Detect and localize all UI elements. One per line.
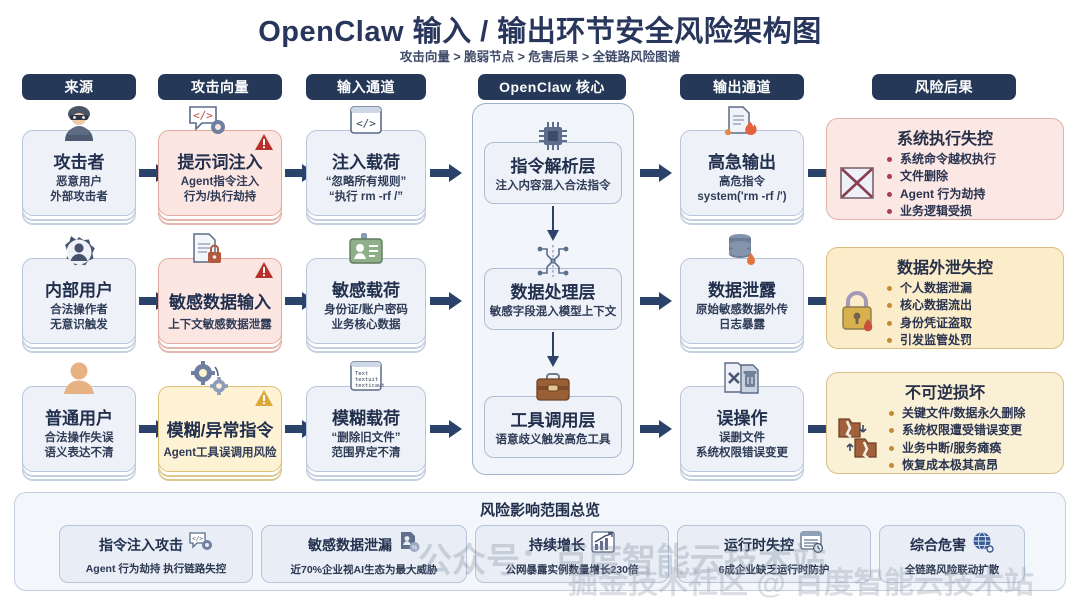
risk-item: 核心数据流出 bbox=[887, 297, 972, 314]
column-header-attack-vector: 攻击向量 bbox=[158, 74, 282, 100]
node-sub-2: “执行 rm -rf /” bbox=[329, 190, 403, 206]
summary-card-data-leak[interactable]: 敏感数据泄漏 % 近70%企业视AI生态为最大威胁 bbox=[261, 525, 467, 583]
node-sub-2: system('rm -rf /') bbox=[697, 190, 786, 206]
page-title: OpenClaw 输入 / 输出环节安全风险架构图 bbox=[0, 8, 1080, 50]
node-vector-ambiguous-command[interactable]: 模糊/异常指令 Agent工具误调用风险 bbox=[158, 386, 282, 472]
svg-text:</>: </> bbox=[193, 109, 213, 122]
risk-item-list: 系统命令越权执行 文件删除 Agent 行为劫持 业务逻辑受损 bbox=[887, 151, 996, 221]
risk-card-irreversible-damage[interactable]: 不可逆损坏 关键文件/数据永久删除 系统权限遭受错误变更 业务中断/服务瘫痪 恢… bbox=[826, 372, 1064, 474]
summary-title: 风险影响范围总览 bbox=[15, 499, 1065, 520]
core-layer-data-processing[interactable]: 数据处理层 敏感字段混入模型上下文 bbox=[484, 268, 622, 330]
risk-card-system-execution[interactable]: 系统执行失控 系统命令越权执行 文件删除 Agent 行为劫持 业务逻辑受损 bbox=[826, 118, 1064, 220]
globe-icon bbox=[972, 531, 994, 558]
id-card-icon bbox=[347, 233, 385, 270]
broken-folder-icon bbox=[835, 413, 881, 466]
node-title: 敏感载荷 bbox=[332, 281, 400, 301]
node-channel-ambiguous-payload[interactable]: Texttextuittexticaut 模糊载荷 “删除旧文件” 范围界定不清 bbox=[306, 386, 426, 472]
node-output-misoperation[interactable]: 误操作 误删文件 系统权限错误变更 bbox=[680, 386, 804, 472]
neural-node-icon bbox=[533, 243, 573, 284]
node-sub-1: 身份证/账户密码 bbox=[324, 303, 408, 319]
node-sub-2: 外部攻击者 bbox=[50, 190, 108, 206]
node-source-attacker[interactable]: 攻击者 恶意用户 外部攻击者 bbox=[22, 130, 136, 216]
node-title: 高急输出 bbox=[708, 153, 776, 173]
summary-card-sub: 全链路风险联动扩散 bbox=[905, 562, 1000, 577]
core-layer-sub: 语意歧义触发高危工具 bbox=[496, 433, 611, 449]
node-sub-1: Agent指令注入 bbox=[181, 175, 260, 191]
node-sub-1: 上下文敏感数据泄露 bbox=[168, 318, 272, 334]
risk-item: 身份凭证盗取 bbox=[887, 315, 972, 332]
summary-card-title: 运行时失控 bbox=[724, 535, 794, 555]
node-vector-sensitive-input[interactable]: 敏感数据输入 上下文敏感数据泄露 bbox=[158, 258, 282, 344]
summary-card-sub: Agent 行为劫持 执行链路失控 bbox=[86, 561, 227, 576]
code-window-icon: </> bbox=[349, 105, 383, 140]
warning-triangle-amber-icon bbox=[254, 389, 274, 412]
page-subtitle: 攻击向量 > 脆弱节点 > 危害后果 > 全链路风险图谱 bbox=[0, 46, 1080, 65]
node-sub-1: Agent工具误调用风险 bbox=[163, 446, 276, 462]
summary-card-title: 敏感数据泄漏 bbox=[308, 535, 392, 555]
risk-item: 系统命令越权执行 bbox=[887, 151, 996, 168]
lock-drop-icon bbox=[835, 288, 879, 341]
svg-text:%: % bbox=[412, 546, 418, 552]
risk-item: 引发监管处罚 bbox=[887, 332, 972, 349]
node-title: 模糊载荷 bbox=[332, 409, 400, 429]
hacker-icon bbox=[59, 105, 99, 148]
arrow-channel-to-core-3 bbox=[430, 419, 464, 439]
summary-card-runtime[interactable]: 运行时失控 6成企业缺乏运行时防护 bbox=[677, 525, 871, 583]
core-layer-sub: 注入内容混入合法指令 bbox=[496, 179, 611, 195]
risk-title: 不可逆损坏 bbox=[835, 379, 1055, 403]
summary-card-sub: 6成企业缺乏运行时防护 bbox=[719, 562, 830, 577]
risk-item: 恢复成本极其高昂 bbox=[889, 457, 1025, 474]
summary-card-title: 持续增长 bbox=[529, 535, 585, 555]
node-title: 敏感数据输入 bbox=[169, 293, 271, 313]
risk-item: 系统权限遭受错误变更 bbox=[889, 422, 1025, 439]
node-sub-1: 合法操作者 bbox=[50, 303, 108, 319]
code-gear-small-icon: </> bbox=[189, 532, 213, 557]
node-sub-2: 行为/执行劫持 bbox=[184, 190, 256, 206]
arrow-core-to-output-2 bbox=[640, 291, 674, 311]
node-title: 模糊/异常指令 bbox=[167, 421, 274, 441]
document-lock-icon bbox=[188, 233, 228, 274]
warning-triangle-icon bbox=[254, 261, 274, 284]
node-sub-1: 合法操作失误 bbox=[45, 431, 114, 447]
risk-item: 关键文件/数据永久删除 bbox=[889, 405, 1025, 422]
risk-title: 系统执行失控 bbox=[835, 125, 1055, 149]
summary-card-combined-harm[interactable]: 综合危害 全链路风险联动扩散 bbox=[879, 525, 1025, 583]
core-layer-title: 指令解析层 bbox=[511, 157, 596, 177]
summary-card-title: 综合危害 bbox=[910, 535, 966, 555]
node-title: 数据泄露 bbox=[708, 281, 776, 301]
column-header-input-channel: 输入通道 bbox=[306, 74, 426, 100]
arrow-core-2-to-3 bbox=[546, 332, 560, 368]
node-title: 内部用户 bbox=[45, 281, 113, 301]
svg-text:</>: </> bbox=[356, 117, 376, 130]
node-sub-1: “删除旧文件” bbox=[332, 431, 401, 447]
arrow-channel-to-core-2 bbox=[430, 291, 464, 311]
briefcase-icon bbox=[535, 373, 571, 408]
node-source-normal-user[interactable]: 普通用户 合法操作失误 语义表达不清 bbox=[22, 386, 136, 472]
arrow-core-to-output-1 bbox=[640, 163, 674, 183]
node-vector-prompt-injection[interactable]: </> 提示词注入 Agent指令注入 行为/执行劫持 bbox=[158, 130, 282, 216]
growth-chart-icon bbox=[591, 531, 615, 558]
risk-item-list: 关键文件/数据永久删除 系统权限遭受错误变更 业务中断/服务瘫痪 恢复成本极其高… bbox=[889, 405, 1025, 475]
node-sub-2: 范围界定不清 bbox=[332, 446, 401, 462]
summary-card-sub: 近70%企业视AI生态为最大威胁 bbox=[290, 562, 437, 577]
delete-file-icon bbox=[721, 361, 763, 400]
node-title: 注入载荷 bbox=[332, 153, 400, 173]
risk-item: 文件删除 bbox=[887, 168, 996, 185]
node-source-internal-user[interactable]: 内部用户 合法操作者 无意识触发 bbox=[22, 258, 136, 344]
core-layer-sub: 敏感字段混入模型上下文 bbox=[490, 305, 617, 321]
risk-item: 个人数据泄漏 bbox=[887, 280, 972, 297]
code-gear-icon: </> bbox=[188, 105, 228, 144]
node-channel-sensitive-payload[interactable]: 敏感载荷 身份证/账户密码 业务核心数据 bbox=[306, 258, 426, 344]
gears-icon bbox=[188, 361, 232, 402]
node-sub-1: “忽略所有规则” bbox=[326, 175, 407, 191]
node-output-data-leak[interactable]: 数据泄露 原始敏感数据外传 日志暴露 bbox=[680, 258, 804, 344]
summary-card-sub: 公网暴露实例数量增长230倍 bbox=[505, 562, 638, 577]
risk-item: Agent 行为劫持 bbox=[887, 186, 996, 203]
node-title: 攻击者 bbox=[54, 153, 105, 173]
svg-text:</>: </> bbox=[192, 536, 203, 543]
node-sub-1: 高危指令 bbox=[719, 175, 765, 191]
column-header-source: 来源 bbox=[22, 74, 136, 100]
person-icon bbox=[61, 361, 97, 400]
column-header-openclaw-core: OpenClaw 核心 bbox=[478, 74, 626, 100]
core-layer-title: 数据处理层 bbox=[511, 283, 596, 303]
node-sub-2: 无意识触发 bbox=[50, 318, 108, 334]
risk-item: 业务逻辑受损 bbox=[887, 203, 996, 220]
column-header-output-channel: 输出通道 bbox=[680, 74, 804, 100]
node-channel-injection-payload[interactable]: </> 注入载荷 “忽略所有规则” “执行 rm -rf /” bbox=[306, 130, 426, 216]
runtime-monitor-icon bbox=[800, 531, 824, 558]
summary-card-growth[interactable]: 持续增长 公网暴露实例数量增长230倍 bbox=[475, 525, 669, 583]
core-layer-instruction-parsing[interactable]: 指令解析层 注入内容混入合法指令 bbox=[484, 142, 622, 204]
warning-triangle-icon bbox=[254, 133, 274, 156]
node-sub-2: 业务核心数据 bbox=[332, 318, 401, 334]
node-sub-1: 恶意用户 bbox=[56, 175, 102, 191]
risk-item: 业务中断/服务瘫痪 bbox=[889, 440, 1025, 457]
node-title: 误操作 bbox=[717, 409, 768, 429]
crossed-box-icon bbox=[835, 160, 879, 211]
arrow-channel-to-core-1 bbox=[430, 163, 464, 183]
node-sub-1: 误删文件 bbox=[719, 431, 765, 447]
document-percent-icon: % bbox=[398, 531, 420, 558]
burning-document-icon bbox=[721, 105, 763, 142]
summary-card-injection-attack[interactable]: 指令注入攻击 </> Agent 行为劫持 执行链路失控 bbox=[59, 525, 253, 583]
svg-text:texticaut: texticaut bbox=[355, 383, 384, 389]
risk-item-list: 个人数据泄漏 核心数据流出 身份凭证盗取 引发监管处罚 bbox=[887, 280, 972, 350]
node-output-high-risk[interactable]: 高急输出 高危指令 system('rm -rf /') bbox=[680, 130, 804, 216]
node-sub-2: 日志暴露 bbox=[719, 318, 765, 334]
node-sub-2: 语义表达不清 bbox=[45, 446, 114, 462]
arrow-core-1-to-2 bbox=[546, 206, 560, 242]
core-layer-tool-invocation[interactable]: 工具调用层 语意歧义触发高危工具 bbox=[484, 396, 622, 458]
node-title: 提示词注入 bbox=[178, 153, 263, 173]
arrow-core-to-output-3 bbox=[640, 419, 674, 439]
node-sub-2: 系统权限错误变更 bbox=[696, 446, 788, 462]
chip-icon bbox=[536, 119, 570, 158]
database-leak-icon bbox=[723, 233, 761, 272]
risk-card-data-exfiltration[interactable]: 数据外泄失控 个人数据泄漏 核心数据流出 身份凭证盗取 引发监管处罚 bbox=[826, 247, 1064, 349]
text-window-icon: Texttextuittexticaut bbox=[348, 361, 384, 398]
core-layer-title: 工具调用层 bbox=[511, 411, 596, 431]
summary-card-title: 指令注入攻击 bbox=[99, 535, 183, 555]
summary-panel: 风险影响范围总览 指令注入攻击 </> Agent 行为劫持 执行链路失控 敏感… bbox=[14, 492, 1066, 591]
node-title: 普通用户 bbox=[45, 409, 113, 429]
node-sub-1: 原始敏感数据外传 bbox=[696, 303, 788, 319]
risk-title: 数据外泄失控 bbox=[835, 254, 1055, 278]
user-badge-icon bbox=[60, 233, 98, 276]
column-header-risk-outcome: 风险后果 bbox=[872, 74, 1016, 100]
